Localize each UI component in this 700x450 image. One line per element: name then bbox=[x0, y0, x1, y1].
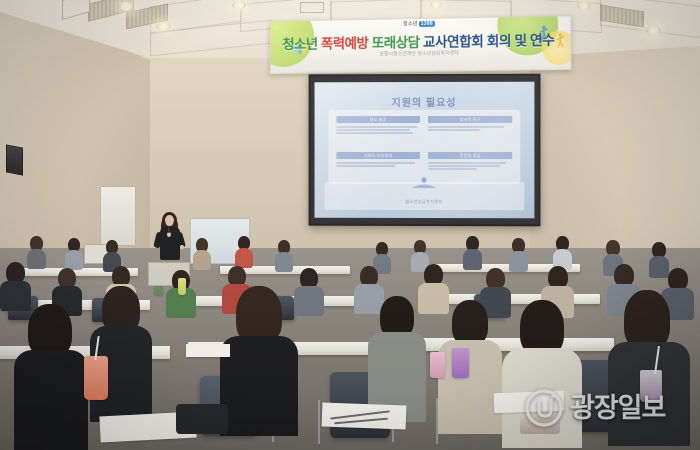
tumbler bbox=[84, 356, 108, 400]
slide-box: 정서적 욕구 bbox=[428, 116, 513, 132]
slide-box-heading: 정보 제공 bbox=[370, 117, 387, 123]
slide-box: 전문적 개입 bbox=[428, 152, 513, 172]
downlight bbox=[577, 2, 591, 10]
handout-paper bbox=[322, 403, 407, 430]
slide-box-heading: 전문적 개입 bbox=[460, 153, 481, 159]
slide-title: 지원의 필요성 bbox=[315, 94, 535, 109]
tumbler bbox=[178, 278, 186, 295]
projector-mount bbox=[300, 2, 324, 13]
tumbler bbox=[154, 286, 163, 295]
microphone-icon bbox=[168, 227, 170, 233]
handout-paper bbox=[186, 344, 230, 357]
downlight bbox=[118, 2, 134, 11]
downlight bbox=[646, 26, 661, 35]
pouch bbox=[176, 404, 228, 434]
slide-surface: 지원의 필요성 정보 제공 정서적 욕구 bbox=[315, 82, 535, 219]
banner-seg-3: 또래상담 bbox=[372, 35, 420, 51]
banner-seg-2: 폭력예방 bbox=[321, 36, 368, 52]
projection-screen: 지원의 필요성 정보 제공 정서적 욕구 bbox=[309, 74, 541, 227]
tumbler bbox=[430, 352, 445, 378]
slide-box-heading: 정서적 욕구 bbox=[460, 116, 481, 122]
banner-logo-number: 1388 bbox=[419, 21, 435, 27]
watermark: 광장일보 bbox=[524, 386, 690, 430]
whiteboard bbox=[100, 186, 136, 246]
watermark-text: 광장일보 bbox=[570, 395, 665, 422]
tumbler bbox=[452, 348, 469, 378]
banner-logo-text: 청소년 bbox=[403, 21, 418, 27]
runner-figure-icon bbox=[540, 25, 548, 41]
banner-seg-1: 청소년 bbox=[282, 37, 317, 52]
slide-footer: 청소년상담복지센터 bbox=[324, 182, 524, 210]
downlight bbox=[430, 1, 442, 8]
slide-box: 정보 제공 bbox=[336, 116, 420, 136]
event-banner: 청소년1388 청소년 폭력예방 또래상담 교사연합회 회의 및 연수 포항시청… bbox=[270, 15, 572, 74]
wall-speaker bbox=[6, 144, 23, 175]
downlight bbox=[156, 22, 171, 31]
slide-footer-text: 청소년상담복지센터 bbox=[324, 199, 524, 205]
circular-g-logo-icon bbox=[524, 388, 564, 428]
runner-figure-icon bbox=[556, 33, 564, 49]
slide-box: 사회적 지지체계 bbox=[336, 152, 420, 168]
organization-emblem-icon bbox=[411, 176, 437, 190]
photo-scene: 청소년1388 청소년 폭력예방 또래상담 교사연합회 회의 및 연수 포항시청… bbox=[0, 0, 700, 450]
slide-box-heading: 사회적 지지체계 bbox=[364, 152, 392, 158]
downlight bbox=[232, 1, 246, 9]
presenter bbox=[150, 212, 190, 270]
slide-content-card: 정보 제공 정서적 욕구 사회적 지지체계 bbox=[328, 110, 520, 184]
